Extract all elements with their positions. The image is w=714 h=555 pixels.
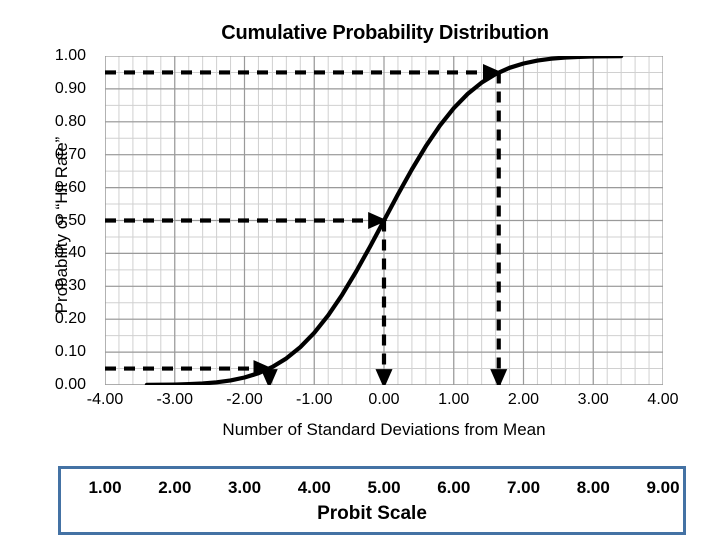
probit-tick-label: 7.00 xyxy=(484,477,564,499)
x-axis-tick-label: -2.00 xyxy=(205,391,285,409)
probit-scale-box: 1.002.003.004.005.006.007.008.009.00 Pro… xyxy=(58,466,686,535)
x-axis-title: Number of Standard Deviations from Mean xyxy=(105,420,663,440)
probit-tick-label: 9.00 xyxy=(623,477,703,499)
chart-plot-svg xyxy=(105,56,663,385)
x-axis-tick-labels: -4.00-3.00-2.00-1.000.001.002.003.004.00 xyxy=(105,391,663,413)
x-axis-tick-label: 2.00 xyxy=(484,391,564,409)
probit-tick-labels: 1.002.003.004.005.006.007.008.009.00 xyxy=(61,477,683,501)
y-axis-tick-label: 0.10 xyxy=(30,344,86,360)
y-axis-tick-label: 0.70 xyxy=(30,147,86,163)
probit-tick-label: 6.00 xyxy=(414,477,494,499)
x-axis-tick-label: 0.00 xyxy=(344,391,424,409)
x-axis-tick-label: -4.00 xyxy=(65,391,145,409)
y-axis-tick-label: 0.80 xyxy=(30,114,86,130)
plot-area xyxy=(105,56,663,385)
y-axis-tick-label: 1.00 xyxy=(30,48,86,64)
probit-tick-label: 4.00 xyxy=(274,477,354,499)
probit-tick-label: 8.00 xyxy=(553,477,633,499)
x-axis-tick-label: 1.00 xyxy=(414,391,494,409)
x-axis-tick-label: 4.00 xyxy=(623,391,703,409)
probit-tick-label: 2.00 xyxy=(135,477,215,499)
y-axis-tick-labels: 1.000.900.800.700.600.500.400.300.200.10… xyxy=(40,56,96,385)
y-axis-tick-label: 0.90 xyxy=(30,81,86,97)
x-axis-tick-label: -1.00 xyxy=(274,391,354,409)
chart-title: Cumulative Probability Distribution xyxy=(105,22,665,45)
y-axis-tick-label: 0.60 xyxy=(30,180,86,196)
probit-tick-label: 3.00 xyxy=(205,477,285,499)
probit-scale-title: Probit Scale xyxy=(61,503,683,525)
probit-tick-label: 1.00 xyxy=(65,477,145,499)
y-axis-tick-label: 0.50 xyxy=(30,213,86,229)
x-axis-tick-label: 3.00 xyxy=(553,391,633,409)
y-axis-tick-label: 0.40 xyxy=(30,245,86,261)
y-axis-tick-label: 0.30 xyxy=(30,278,86,294)
y-axis-tick-label: 0.20 xyxy=(30,311,86,327)
x-axis-tick-label: -3.00 xyxy=(135,391,215,409)
probit-tick-label: 5.00 xyxy=(344,477,424,499)
chart-page: Cumulative Probability Distribution Prob… xyxy=(0,0,714,555)
